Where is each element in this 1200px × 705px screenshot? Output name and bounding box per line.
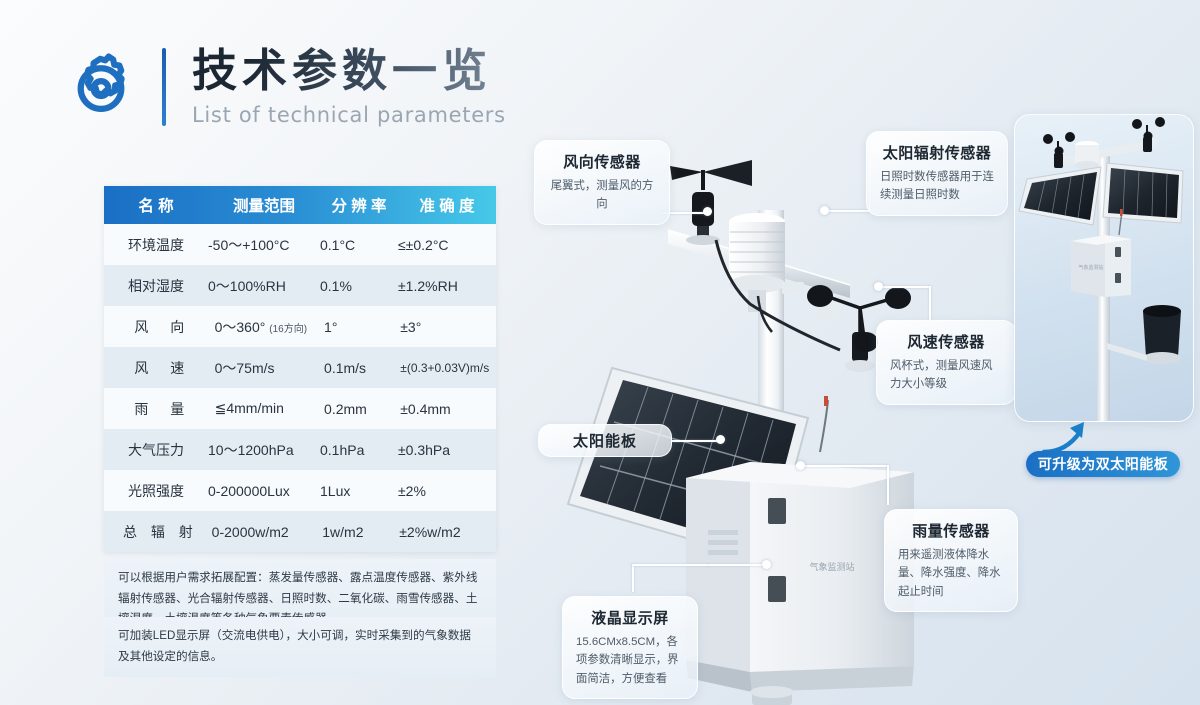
col-header-resolution: 分 辨 率: [320, 194, 398, 216]
header-divider: [162, 48, 166, 126]
cell-range: 0～360° (16方向): [215, 317, 324, 337]
dual-panel-inset[interactable]: 气象监测站: [1014, 114, 1194, 422]
cell-resolution: 1w/m2: [322, 524, 399, 540]
connector-line-rain-gauge-h: [800, 465, 888, 467]
callout-wind-direction-sensor[interactable]: 风向传感器 尾翼式，测量风的方向: [534, 140, 670, 225]
svg-text:气象监测站: 气象监测站: [1078, 264, 1103, 271]
page-header: 技术参数一览 List of technical parameters: [62, 46, 506, 127]
cell-name: 风 向: [104, 317, 215, 337]
connector-line-solar-radiation: [824, 210, 870, 212]
callout-title: 太阳辐射传感器: [880, 142, 994, 163]
cell-resolution: 1°: [324, 319, 400, 335]
cell-range: 10～1200hPa: [208, 440, 320, 460]
col-header-accuracy: 准 确 度: [398, 194, 496, 216]
cell-accuracy: ±(0.3+0.03V)m/s: [400, 361, 496, 375]
cell-name: 光照强度: [104, 481, 208, 501]
callout-title: 风速传感器: [890, 331, 1002, 352]
cell-accuracy: ±1.2%RH: [398, 278, 496, 294]
cell-name: 风 速: [104, 358, 215, 378]
cell-accuracy: ±3°: [400, 319, 496, 335]
callout-wind-speed-sensor[interactable]: 风速传感器 风杯式，测量风速风力大小等级: [876, 320, 1016, 405]
connector-dot-wind-speed: [874, 282, 883, 291]
cell-resolution: 0.1hPa: [320, 442, 398, 458]
callout-rain-gauge-sensor[interactable]: 雨量传感器 用来遥测液体降水量、降水强度、降水起止时间: [884, 509, 1018, 612]
callout-title: 太阳能板: [573, 430, 637, 451]
callout-desc: 用来遥测液体降水量、降水强度、降水起止时间: [898, 546, 1004, 601]
curved-arrow-icon: [1040, 416, 1106, 456]
callout-desc: 尾翼式，测量风的方向: [548, 177, 656, 214]
callout-desc: 日照时数传感器用于连续测量日照时数: [880, 168, 994, 205]
connector-line-rain-gauge-v: [887, 465, 889, 505]
connector-dot-solar-radiation: [820, 206, 829, 215]
infographic-canvas: 技术参数一览 List of technical parameters 名 称 …: [0, 0, 1200, 705]
cell-name: 大气压力: [104, 440, 208, 460]
table-row: 环境温度 -50～+100°C 0.1°C ≤±0.2°C: [104, 224, 496, 265]
callout-lcd-display[interactable]: 液晶显示屏 15.6CMx8.5CM，各项参数清晰显示，界面简洁，方便查看: [562, 596, 698, 699]
cell-range: 0～100%RH: [208, 276, 320, 296]
upgrade-badge[interactable]: 可升级为双太阳能板: [1026, 451, 1180, 477]
cell-resolution: 1Lux: [320, 483, 398, 499]
cell-name: 相对湿度: [104, 276, 208, 296]
table-row: 风 速 0～75m/s 0.1m/s ±(0.3+0.03V)m/s: [104, 347, 496, 388]
cell-resolution: 0.2mm: [324, 401, 400, 417]
connector-line-wind-speed-h: [878, 286, 930, 288]
cell-range: 0-2000w/m2: [212, 524, 323, 540]
cell-resolution: 0.1%: [320, 278, 398, 294]
cell-name: 环境温度: [104, 235, 208, 255]
callout-title: 雨量传感器: [898, 520, 1004, 541]
cell-range: 0-200000Lux: [208, 483, 320, 499]
cell-accuracy: ±2%: [398, 483, 496, 499]
page-title: 技术参数一览: [192, 46, 506, 96]
callout-desc: 15.6CMx8.5CM，各项参数清晰显示，界面简洁，方便查看: [576, 633, 684, 688]
callout-desc: 风杯式，测量风速风力大小等级: [890, 357, 1002, 394]
connector-dot-lcd: [762, 560, 771, 569]
cell-resolution: 0.1°C: [320, 237, 398, 253]
callout-solar-radiation-sensor[interactable]: 太阳辐射传感器 日照时数传感器用于连续测量日照时数: [866, 131, 1008, 216]
connector-line-lcd-h2: [632, 564, 708, 566]
cell-resolution: 0.1m/s: [324, 360, 400, 376]
dual-panel-illustration: 气象监测站: [1015, 115, 1193, 421]
table-row: 相对湿度 0～100%RH 0.1% ±1.2%RH: [104, 265, 496, 306]
cell-range: 0～75m/s: [215, 358, 324, 378]
connector-line-solar-panel: [672, 440, 720, 442]
cell-accuracy: ±2%w/m2: [399, 524, 496, 540]
cell-name: 总 辐 射: [104, 522, 212, 542]
col-header-name: 名 称: [104, 194, 208, 216]
col-header-range: 测量范围: [208, 194, 320, 216]
callout-solar-panel[interactable]: 太阳能板: [538, 424, 672, 457]
cell-range: ≦4mm/min: [215, 400, 324, 417]
control-cabinet: 气象监测站: [686, 462, 914, 692]
page-subtitle: List of technical parameters: [192, 103, 506, 127]
cell-name: 雨 量: [104, 399, 215, 419]
gear-icon: [62, 48, 140, 126]
spec-table: 名 称 测量范围 分 辨 率 准 确 度 环境温度 -50～+100°C 0.1…: [104, 186, 496, 552]
cabinet-brand-label: 气象监测站: [809, 561, 854, 572]
table-row: 雨 量 ≦4mm/min 0.2mm ±0.4mm: [104, 388, 496, 429]
table-row: 风 向 0～360° (16方向) 1° ±3°: [104, 306, 496, 347]
cell-accuracy: ±0.4mm: [400, 401, 496, 417]
connector-line-lcd-h: [706, 564, 766, 566]
cell-range-note: (16方向): [269, 324, 307, 335]
callout-title: 风向传感器: [548, 151, 656, 172]
connector-dot-rain-gauge: [796, 461, 805, 470]
table-row: 光照强度 0-200000Lux 1Lux ±2%: [104, 470, 496, 511]
connector-line-wind-speed-v: [929, 286, 931, 320]
connector-dot-solar-panel: [716, 435, 725, 444]
connector-line-lcd-v: [632, 564, 634, 592]
callout-title: 液晶显示屏: [576, 607, 684, 628]
note-led-display: 可加装LED显示屏（交流电供电），大小可调，实时采集到的气象数据及其他设定的信息…: [104, 617, 496, 677]
cell-accuracy: ≤±0.2°C: [398, 237, 496, 253]
cell-accuracy: ±0.3hPa: [398, 442, 496, 458]
cell-range: -50～+100°C: [208, 235, 320, 255]
connector-dot-wind-direction: [703, 207, 712, 216]
table-header-row: 名 称 测量范围 分 辨 率 准 确 度: [104, 186, 496, 224]
cell-range-value: 0～360°: [215, 319, 266, 335]
table-row: 总 辐 射 0-2000w/m2 1w/m2 ±2%w/m2: [104, 511, 496, 552]
table-row: 大气压力 10～1200hPa 0.1hPa ±0.3hPa: [104, 429, 496, 470]
